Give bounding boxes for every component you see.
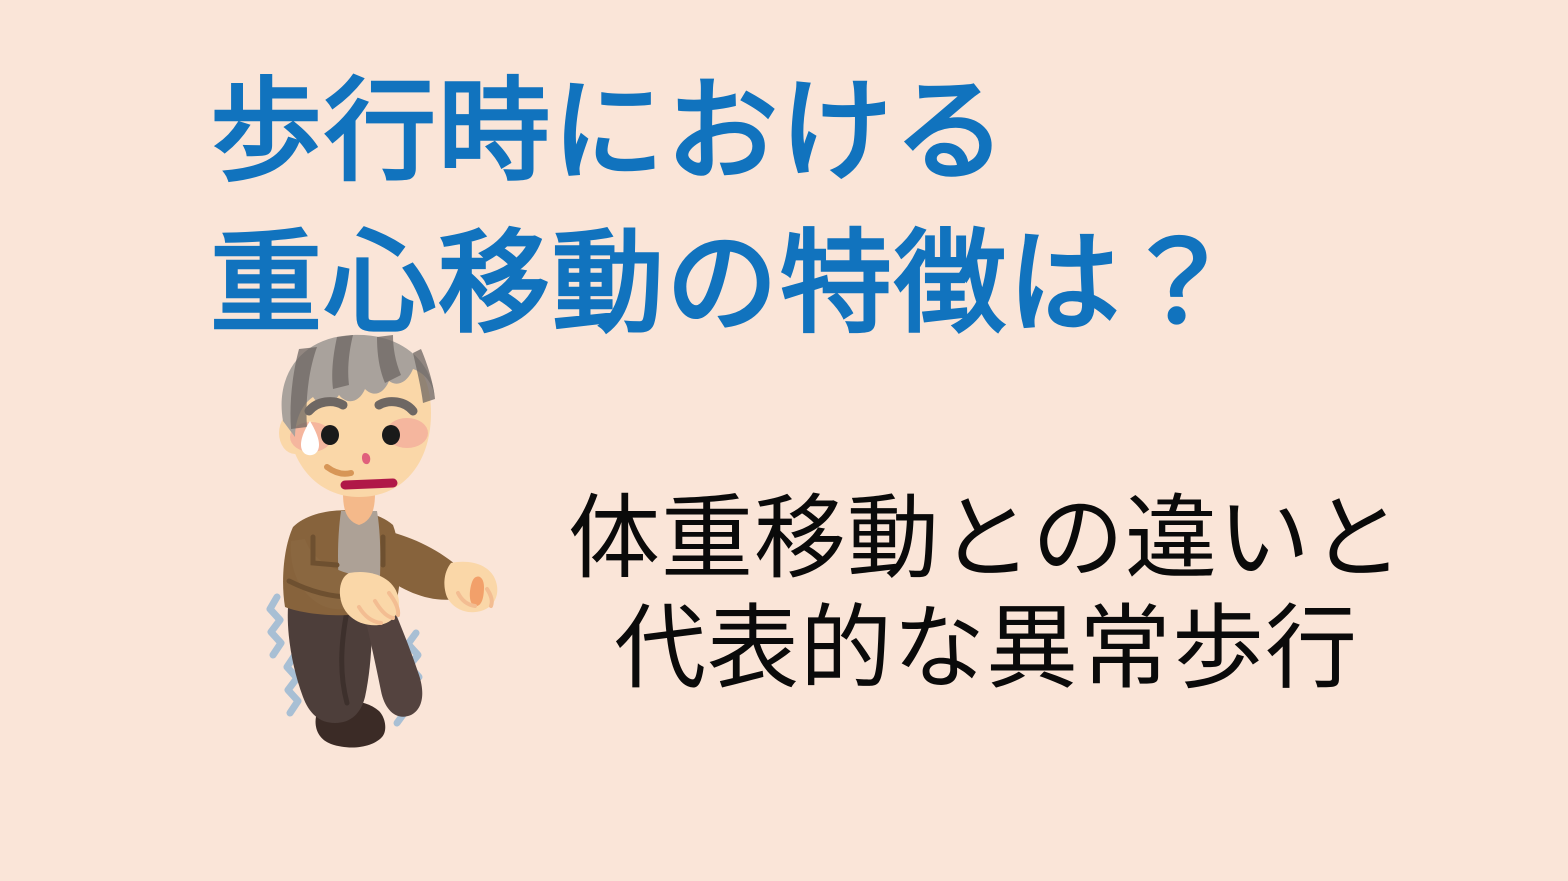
- page-subtitle: 体重移動との違いと 代表的な異常歩行: [566, 484, 1406, 704]
- eye-left: [321, 425, 339, 445]
- head: [279, 335, 435, 497]
- title-line-1: 歩行時における: [210, 56, 1410, 208]
- slide-canvas: 歩行時における 重心移動の特徴は？ 体重移動との違いと 代表的な異常歩行: [0, 0, 1568, 881]
- mouth: [345, 483, 393, 485]
- eye-right: [382, 425, 400, 445]
- right-hand: [444, 562, 497, 612]
- illustration-svg: [255, 325, 575, 775]
- subtitle-line-2: 代表的な異常歩行: [566, 594, 1406, 704]
- page-title: 歩行時における 重心移動の特徴は？: [210, 56, 1410, 360]
- subtitle-line-1: 体重移動との違いと: [566, 484, 1406, 594]
- elderly-man-unsteady-gait-illustration: [255, 325, 575, 775]
